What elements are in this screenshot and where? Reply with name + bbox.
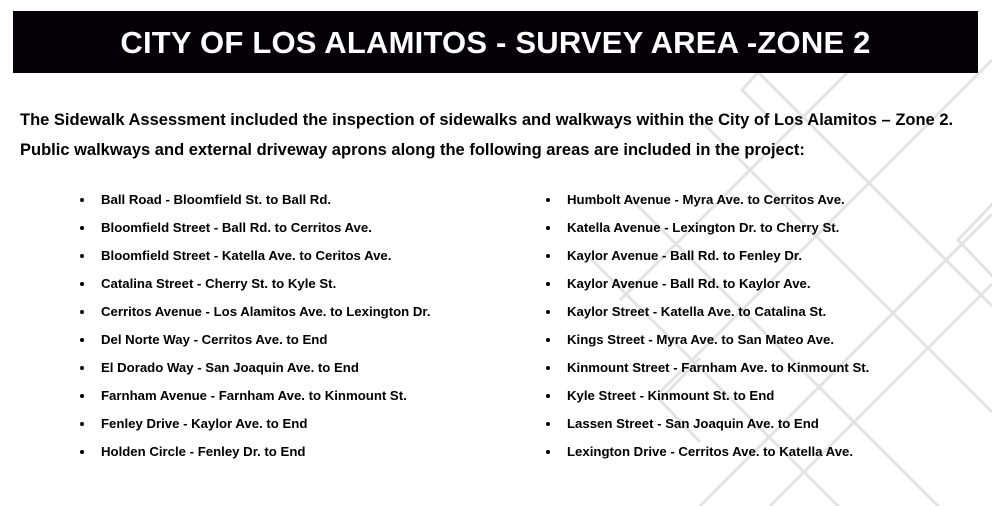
street-label: Farnham Avenue - Farnham Ave. to Kinmoun… <box>101 388 407 403</box>
bullet-icon <box>546 450 550 454</box>
bullet-icon <box>80 282 84 286</box>
list-item: Holden Circle - Fenley Dr. to End <box>80 438 530 466</box>
list-item: Kings Street - Myra Ave. to San Mateo Av… <box>546 326 992 354</box>
bullet-icon <box>546 310 550 314</box>
list-item: Humbolt Avenue - Myra Ave. to Cerritos A… <box>546 186 992 214</box>
page-title-banner: CITY OF LOS ALAMITOS - SURVEY AREA -ZONE… <box>13 11 978 73</box>
bullet-icon <box>80 226 84 230</box>
bullet-icon <box>80 338 84 342</box>
list-item: Kaylor Avenue - Ball Rd. to Kaylor Ave. <box>546 270 992 298</box>
street-label: Kaylor Avenue - Ball Rd. to Kaylor Ave. <box>567 276 811 291</box>
street-label: Katella Avenue - Lexington Dr. to Cherry… <box>567 220 839 235</box>
list-item: Lassen Street - San Joaquin Ave. to End <box>546 410 992 438</box>
street-label: Cerritos Avenue - Los Alamitos Ave. to L… <box>101 304 431 319</box>
street-label: Del Norte Way - Cerritos Ave. to End <box>101 332 327 347</box>
list-item: Fenley Drive - Kaylor Ave. to End <box>80 410 530 438</box>
street-list-columns: Ball Road - Bloomfield St. to Ball Rd. B… <box>0 186 992 466</box>
list-item: El Dorado Way - San Joaquin Ave. to End <box>80 354 530 382</box>
street-label: Catalina Street - Cherry St. to Kyle St. <box>101 276 336 291</box>
street-list-column-left: Ball Road - Bloomfield St. to Ball Rd. B… <box>0 186 530 466</box>
list-item: Farnham Avenue - Farnham Ave. to Kinmoun… <box>80 382 530 410</box>
bullet-icon <box>546 366 550 370</box>
list-item: Katella Avenue - Lexington Dr. to Cherry… <box>546 214 992 242</box>
list-item: Kyle Street - Kinmount St. to End <box>546 382 992 410</box>
street-label: Kaylor Street - Katella Ave. to Catalina… <box>567 304 826 319</box>
bullet-icon <box>80 366 84 370</box>
bullet-icon <box>80 254 84 258</box>
list-item: Cerritos Avenue - Los Alamitos Ave. to L… <box>80 298 530 326</box>
bullet-icon <box>546 422 550 426</box>
bullet-icon <box>546 338 550 342</box>
list-item: Catalina Street - Cherry St. to Kyle St. <box>80 270 530 298</box>
list-item: Del Norte Way - Cerritos Ave. to End <box>80 326 530 354</box>
street-label: Humbolt Avenue - Myra Ave. to Cerritos A… <box>567 192 845 207</box>
street-label: Fenley Drive - Kaylor Ave. to End <box>101 416 307 431</box>
street-label: Lexington Drive - Cerritos Ave. to Katel… <box>567 444 853 459</box>
bullet-icon <box>546 198 550 202</box>
street-label: Holden Circle - Fenley Dr. to End <box>101 444 305 459</box>
list-item: Kinmount Street - Farnham Ave. to Kinmou… <box>546 354 992 382</box>
list-item: Bloomfield Street - Katella Ave. to Ceri… <box>80 242 530 270</box>
bullet-icon <box>80 198 84 202</box>
bullet-icon <box>80 422 84 426</box>
street-list-right: Humbolt Avenue - Myra Ave. to Cerritos A… <box>546 186 992 466</box>
list-item: Kaylor Avenue - Ball Rd. to Fenley Dr. <box>546 242 992 270</box>
list-item: Ball Road - Bloomfield St. to Ball Rd. <box>80 186 530 214</box>
street-label: Bloomfield Street - Ball Rd. to Cerritos… <box>101 220 372 235</box>
bullet-icon <box>80 450 84 454</box>
page-title: CITY OF LOS ALAMITOS - SURVEY AREA -ZONE… <box>120 27 870 58</box>
list-item: Kaylor Street - Katella Ave. to Catalina… <box>546 298 992 326</box>
bullet-icon <box>546 394 550 398</box>
street-list-column-right: Humbolt Avenue - Myra Ave. to Cerritos A… <box>530 186 992 466</box>
bullet-icon <box>80 310 84 314</box>
list-item: Lexington Drive - Cerritos Ave. to Katel… <box>546 438 992 466</box>
street-label: Kaylor Avenue - Ball Rd. to Fenley Dr. <box>567 248 802 263</box>
street-label: Kings Street - Myra Ave. to San Mateo Av… <box>567 332 834 347</box>
bullet-icon <box>546 226 550 230</box>
street-label: Kinmount Street - Farnham Ave. to Kinmou… <box>567 360 869 375</box>
bullet-icon <box>80 394 84 398</box>
bullet-icon <box>546 254 550 258</box>
street-label: Bloomfield Street - Katella Ave. to Ceri… <box>101 248 391 263</box>
document-page: CITY OF LOS ALAMITOS - SURVEY AREA -ZONE… <box>0 0 992 506</box>
street-label: Ball Road - Bloomfield St. to Ball Rd. <box>101 192 331 207</box>
intro-paragraph: The Sidewalk Assessment included the ins… <box>20 105 964 165</box>
list-item: Bloomfield Street - Ball Rd. to Cerritos… <box>80 214 530 242</box>
street-label: Lassen Street - San Joaquin Ave. to End <box>567 416 819 431</box>
bullet-icon <box>546 282 550 286</box>
street-label: Kyle Street - Kinmount St. to End <box>567 388 774 403</box>
street-label: El Dorado Way - San Joaquin Ave. to End <box>101 360 359 375</box>
street-list-left: Ball Road - Bloomfield St. to Ball Rd. B… <box>80 186 530 466</box>
